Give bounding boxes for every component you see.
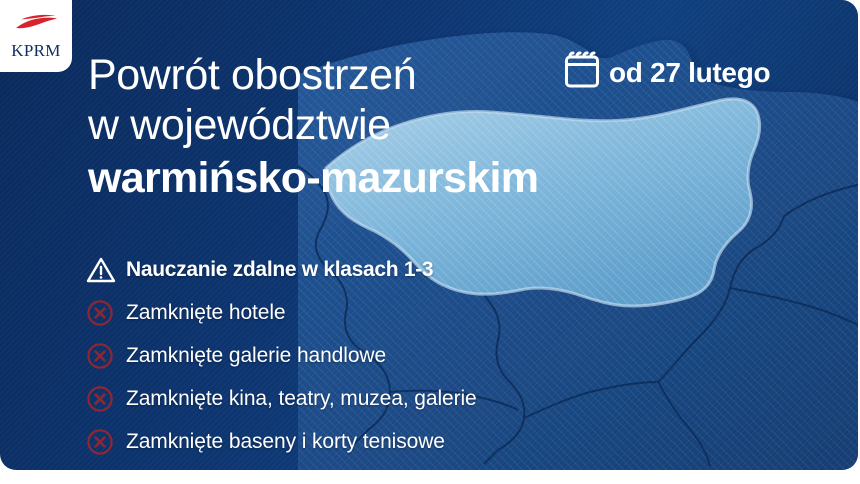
list-item: Zamknięte baseny i korty tenisowe [86, 420, 477, 463]
date-badge-label: od 27 lutego [609, 59, 770, 87]
list-item: Zamknięte galerie handlowe [86, 334, 477, 377]
circle-x-icon [86, 299, 126, 327]
list-item-label: Nauczanie zdalne w klasach 1-3 [126, 259, 433, 280]
poster-canvas: Powrót obostrzeń w województwie warmińsk… [0, 0, 860, 484]
circle-x-icon [86, 385, 126, 413]
list-item-label: Zamknięte baseny i korty tenisowe [126, 431, 445, 452]
headline: Powrót obostrzeń w województwie warmińsk… [88, 50, 538, 204]
list-item: Zamknięte kina, teatry, muzea, galerie [86, 377, 477, 420]
kprm-logo-text: KPRM [11, 42, 60, 59]
list-item: Zamknięte hotele [86, 291, 477, 334]
list-item-label: Zamknięte kina, teatry, muzea, galerie [126, 388, 477, 409]
headline-line-3: warmińsko-mazurskim [88, 152, 538, 204]
headline-line-2: w województwie [88, 100, 538, 150]
list-item-label: Zamknięte hotele [126, 302, 286, 323]
calendar-icon [563, 50, 601, 95]
polish-flag-icon [12, 13, 60, 40]
restrictions-list: Nauczanie zdalne w klasach 1-3 Zamknięte… [86, 248, 477, 463]
warning-triangle-icon [86, 256, 126, 284]
headline-line-1: Powrót obostrzeń [88, 50, 538, 100]
circle-x-icon [86, 428, 126, 456]
list-item-label: Zamknięte galerie handlowe [126, 345, 386, 366]
list-item: Nauczanie zdalne w klasach 1-3 [86, 248, 477, 291]
date-badge: od 27 lutego [563, 50, 770, 95]
circle-x-icon [86, 342, 126, 370]
poster-panel: Powrót obostrzeń w województwie warmińsk… [0, 0, 858, 470]
kprm-logo: KPRM [0, 0, 72, 72]
